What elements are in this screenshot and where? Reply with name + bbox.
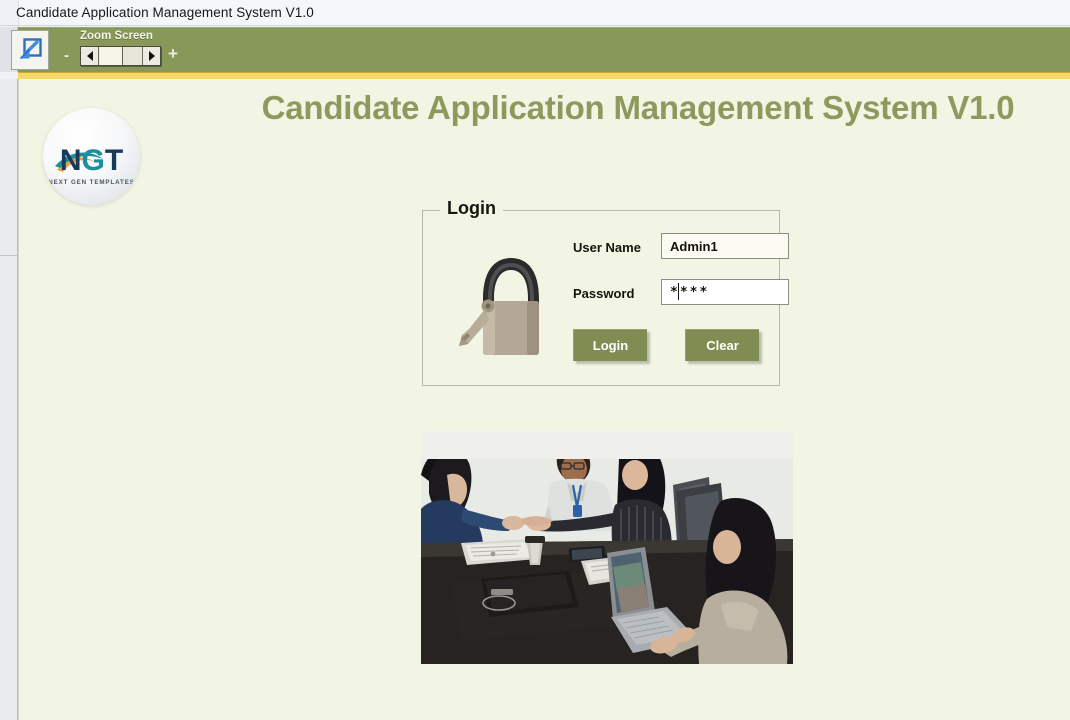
zoom-slider-scrollbar[interactable]	[80, 46, 161, 66]
restore-arrow-icon[interactable]	[11, 30, 49, 70]
padlock-with-key-image	[445, 236, 565, 364]
window-title: Candidate Application Management System …	[16, 5, 314, 20]
gutter-divider	[0, 255, 18, 256]
password-input[interactable]	[661, 279, 789, 305]
login-panel-legend: Login	[440, 198, 503, 219]
zoom-scroll-right-arrow[interactable]	[142, 47, 160, 65]
password-label: Password	[573, 286, 659, 301]
caret-right-icon	[149, 51, 155, 61]
svg-text:NGT: NGT	[60, 144, 123, 177]
zoom-out-button[interactable]: -	[64, 49, 69, 63]
svg-text:NEXT GEN TEMPLATES: NEXT GEN TEMPLATES	[48, 179, 135, 186]
login-panel: Login User Name	[422, 210, 780, 386]
username-input[interactable]	[661, 233, 789, 259]
login-button[interactable]: Login	[573, 329, 647, 361]
zoom-slider-thumb[interactable]	[100, 47, 123, 65]
clear-button[interactable]: Clear	[685, 329, 759, 361]
title-bar: Candidate Application Management System …	[0, 0, 1070, 26]
zoom-scroll-left-arrow[interactable]	[81, 47, 99, 65]
application-window: Candidate Application Management System …	[0, 0, 1070, 720]
accent-strip	[18, 72, 1070, 79]
username-label: User Name	[573, 240, 659, 255]
main-content-area: NGT NEXT GEN TEMPLATES Candidate Applica…	[18, 79, 1070, 720]
window-left-gutter	[0, 79, 18, 720]
brand-logo: NGT NEXT GEN TEMPLATES	[43, 108, 140, 205]
zoom-in-button[interactable]: +	[168, 47, 178, 61]
zoom-screen-label: Zoom Screen	[80, 30, 153, 42]
password-text-caret	[678, 283, 679, 300]
caret-left-icon	[87, 51, 93, 61]
meeting-photo	[421, 431, 793, 664]
page-title: Candidate Application Management System …	[232, 89, 1044, 127]
